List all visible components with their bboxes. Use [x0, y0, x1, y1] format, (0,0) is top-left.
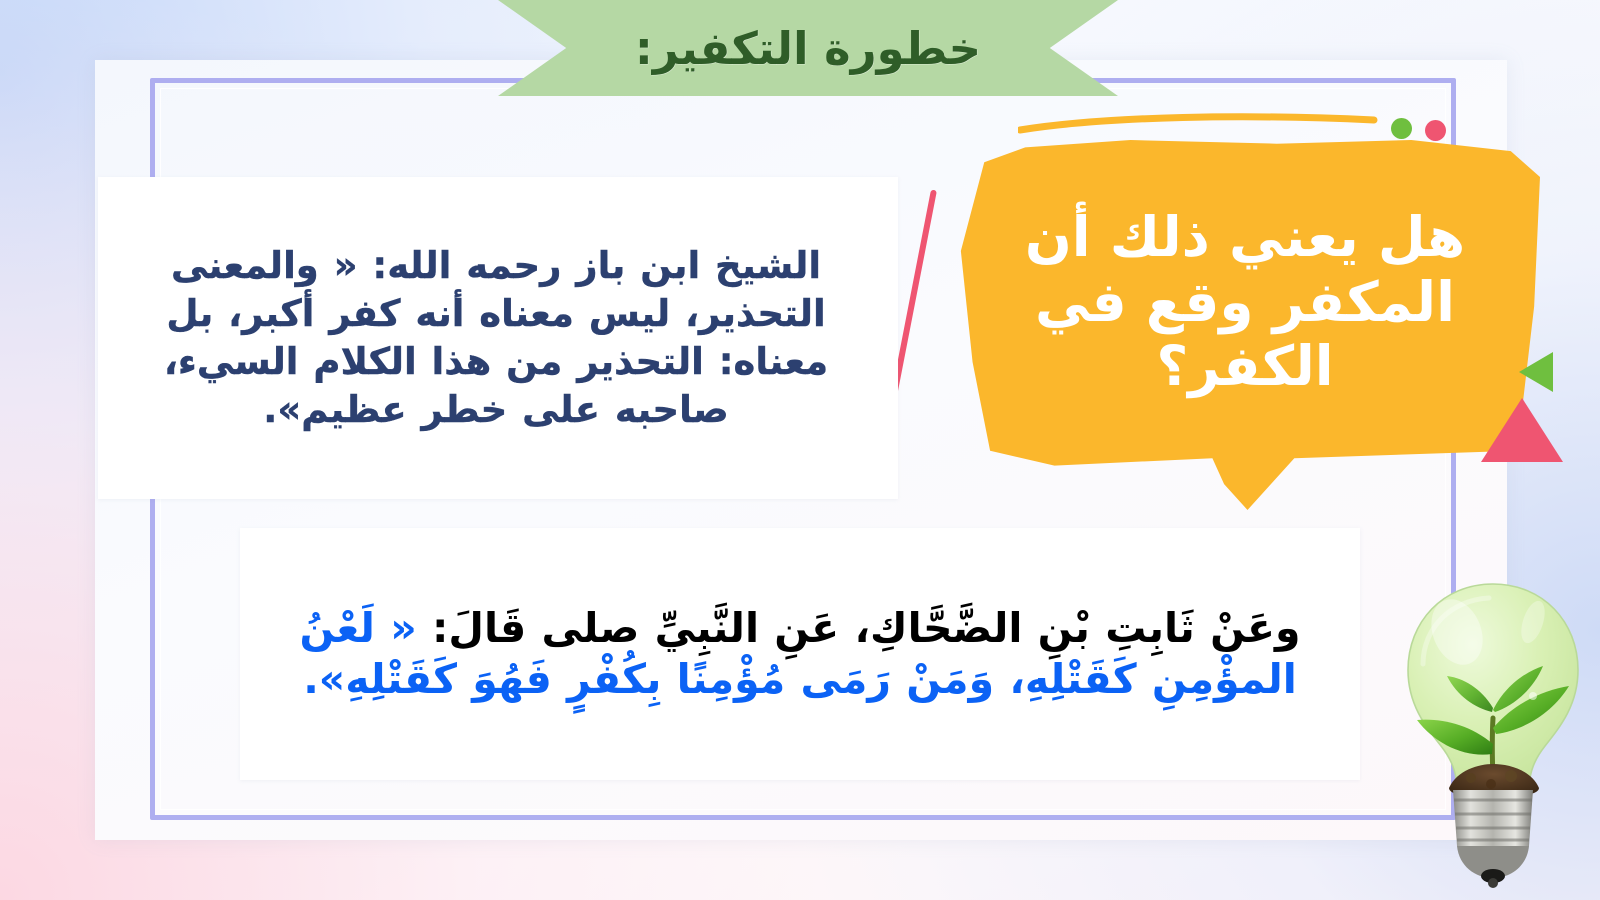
hadith-intro-text: وعَنْ ثَابِتِ بْنِ الضَّحَّاكِ، عَنِ الن… [432, 604, 1300, 652]
orange-curve-line-icon [1018, 112, 1378, 134]
pink-dot-icon [1425, 120, 1446, 141]
hadith-quote-text: وعَنْ ثَابِتِ بْنِ الضَّحَّاكِ، عَنِ الن… [270, 603, 1330, 705]
ibn-baz-quote-box: الشيخ ابن باز رحمه الله: « والمعنى التحذ… [98, 177, 898, 499]
green-dot-icon [1391, 118, 1412, 139]
green-triangle-icon [1519, 352, 1553, 392]
lightbulb-plant-icon [1393, 578, 1593, 890]
hadith-quote-box: وعَنْ ثَابِتِ بْنِ الضَّحَّاكِ، عَنِ الن… [240, 528, 1360, 780]
pink-triangle-icon [1481, 398, 1563, 462]
page-title: خطورة التكفير: [635, 22, 981, 75]
ibn-baz-quote-text: الشيخ ابن باز رحمه الله: « والمعنى التحذ… [120, 242, 872, 434]
slide-root: هل يعني ذلك أن المكفر وقع في الكفر؟ خطور… [0, 0, 1600, 900]
title-ribbon: خطورة التكفير: [498, 0, 1118, 96]
